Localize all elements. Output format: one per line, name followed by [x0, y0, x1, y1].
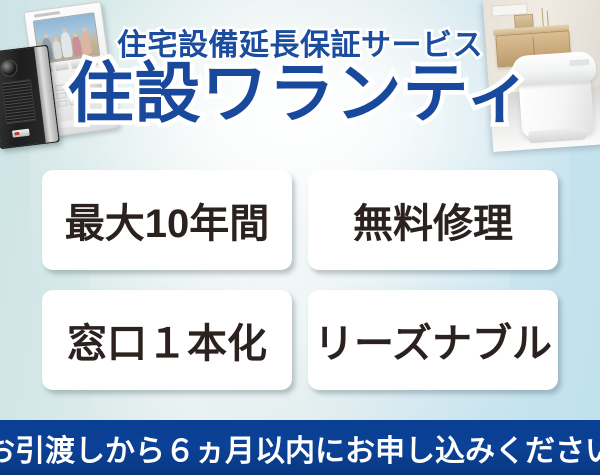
- cta-bar: お引渡しから６ヵ月以内にお申し込みください: [0, 420, 600, 475]
- promo-banner: 住宅設備延長保証サービス 住設ワランティ 最大10年間 無料修理 窓口１本化 リ…: [0, 0, 600, 475]
- feature-grid: 最大10年間 無料修理 窓口１本化 リーズナブル: [42, 170, 558, 390]
- feature-card-reasonable: リーズナブル: [308, 290, 558, 390]
- banner-title: 住設ワランティ: [0, 58, 600, 129]
- feature-card-single-contact: 窓口１本化: [42, 290, 292, 390]
- feature-card-max-10-years: 最大10年間: [42, 170, 292, 270]
- door-station-call-button: [12, 129, 30, 138]
- cta-message: お引渡しから６ヵ月以内にお申し込みください: [0, 426, 600, 470]
- feature-card-free-repair: 無料修理: [308, 170, 558, 270]
